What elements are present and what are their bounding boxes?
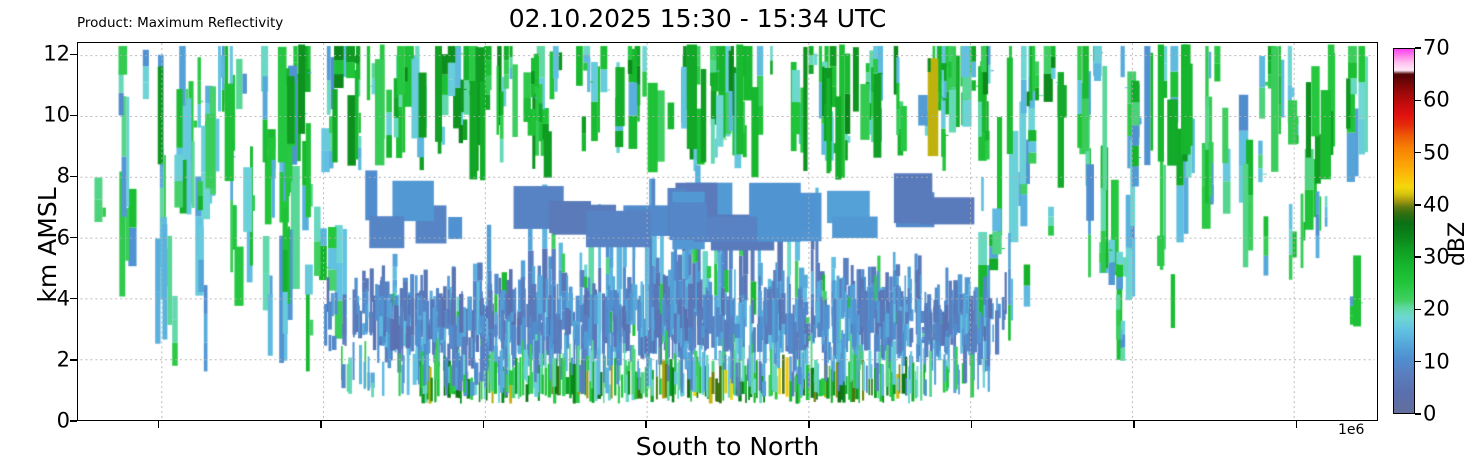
colorbar-tick-mark <box>1415 309 1421 310</box>
colorbar-tick-mark <box>1415 152 1421 153</box>
colorbar-tick-mark <box>1415 204 1421 205</box>
y-tick-mark <box>70 298 77 299</box>
x-tick-mark <box>1133 421 1134 428</box>
colorbar-tick-label: 0 <box>1423 404 1436 425</box>
colorbar-gradient <box>1393 48 1415 414</box>
colorbar-tick-label: 50 <box>1423 142 1450 163</box>
y-tick-label: 12 <box>43 44 70 65</box>
colorbar-tick-mark <box>1415 361 1421 362</box>
colorbar <box>1393 48 1415 414</box>
x-tick-mark <box>1296 421 1297 428</box>
y-tick-mark <box>70 176 77 177</box>
product-label: Product: Maximum Reflectivity <box>77 15 283 31</box>
y-tick-label: 8 <box>57 166 70 187</box>
plot-area <box>77 42 1378 421</box>
x-tick-mark <box>808 421 809 428</box>
y-tick-mark <box>70 237 77 238</box>
x-tick-mark <box>320 421 321 428</box>
y-tick-mark <box>70 115 77 116</box>
colorbar-tick-mark <box>1415 47 1421 48</box>
radar-cross-section-figure: 02.10.2025 15:30 - 15:34 UTC Product: Ma… <box>0 0 1482 470</box>
y-tick-mark <box>70 54 77 55</box>
y-tick-mark <box>70 359 77 360</box>
colorbar-tick-label: 60 <box>1423 90 1450 111</box>
colorbar-tick-label: 10 <box>1423 351 1450 372</box>
y-tick-label: 0 <box>57 411 70 432</box>
x-tick-mark <box>483 421 484 428</box>
colorbar-tick-mark <box>1415 413 1421 414</box>
y-tick-label: 10 <box>43 105 70 126</box>
reflectivity-heatmap <box>78 43 1378 421</box>
x-axis-offset-text: 1e6 <box>1338 422 1364 438</box>
y-tick-label: 6 <box>57 227 70 248</box>
y-tick-mark <box>70 420 77 421</box>
x-tick-mark <box>971 421 972 428</box>
x-tick-mark <box>158 421 159 428</box>
x-axis-label: South to North <box>77 433 1378 461</box>
x-tick-mark <box>645 421 646 428</box>
colorbar-tick-label: 70 <box>1423 38 1450 59</box>
colorbar-axis-label: dBZ <box>1446 184 1470 304</box>
colorbar-tick-mark <box>1415 256 1421 257</box>
colorbar-tick-mark <box>1415 100 1421 101</box>
y-tick-label: 2 <box>57 349 70 370</box>
y-tick-label: 4 <box>57 288 70 309</box>
